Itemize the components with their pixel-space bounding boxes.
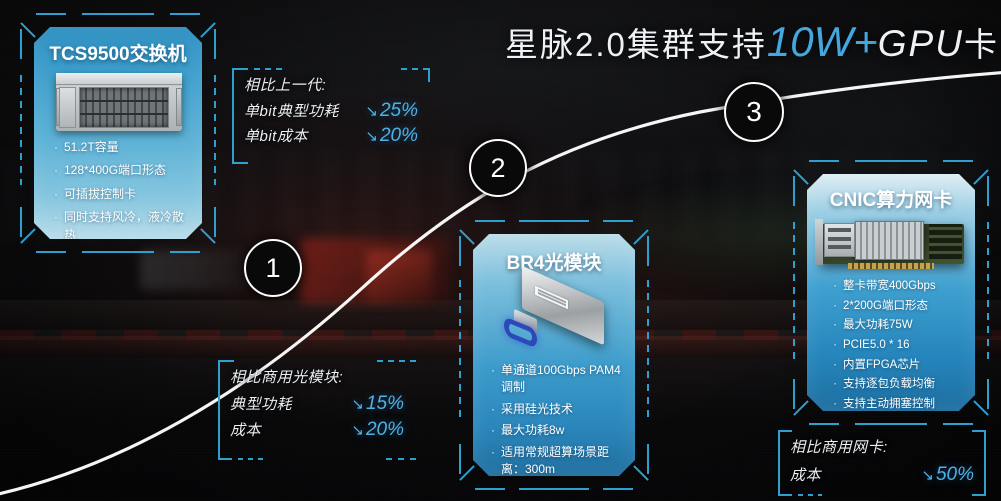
callout-row: 单bit成本 ↘20% — [244, 125, 418, 147]
bullet-text: PCIE5.0 * 16 — [843, 337, 967, 354]
callout-label: 单bit成本 — [244, 125, 308, 146]
list-item: · 最大功耗75W — [827, 317, 967, 334]
bullet-text: 最大功耗75W — [843, 317, 967, 334]
list-item: · 同时支持风冷，液冷散热 — [48, 209, 190, 244]
down-arrow-icon: ↘ — [365, 102, 378, 120]
callout-1: 相比上一代: 单bit典型功耗 ↘25% 单bit成本 ↘20% — [232, 68, 430, 164]
list-item: · 采用硅光技术 — [485, 401, 625, 418]
callout-body-1: 相比上一代: 单bit典型功耗 ↘25% 单bit成本 ↘20% — [232, 68, 430, 164]
bullet-dot-icon: · — [48, 209, 64, 226]
down-arrow-icon: ↘ — [921, 466, 934, 484]
callout-row: 成本 ↘20% — [230, 419, 404, 441]
callout-heading: 相比商用光模块: — [230, 366, 404, 387]
bullet-dot-icon: · — [48, 162, 64, 179]
callout-label: 单bit典型功耗 — [244, 100, 339, 121]
card-title-2: BR4光模块 — [473, 248, 635, 275]
step-marker-2[interactable]: 2 — [469, 139, 527, 197]
callout-value: ↘15% — [351, 393, 404, 415]
callout-value: ↘50% — [921, 464, 974, 486]
bullet-text: 内置FPGA芯片 — [843, 357, 967, 374]
callout-row: 典型功耗 ↘15% — [230, 393, 404, 415]
bullet-dot-icon: · — [485, 444, 501, 461]
step-marker-1[interactable]: 1 — [244, 239, 302, 297]
callout-value: ↘20% — [351, 419, 404, 441]
product-card-2[interactable]: BR4光模块 · 单通道100Gbps PAM4调制 · 采用硅光技术 · 最大… — [473, 234, 635, 476]
down-arrow-icon: ↘ — [351, 421, 364, 439]
bullet-dot-icon: · — [827, 357, 843, 374]
bullet-text: 2*200G端口形态 — [843, 298, 967, 315]
list-item: · 适用常规超算场景距离：300m — [485, 444, 625, 479]
card-bullets-2: · 单通道100Gbps PAM4调制 · 采用硅光技术 · 最大功耗8w · … — [473, 362, 635, 478]
list-item: · 内置FPGA芯片 — [827, 357, 967, 374]
bullet-text: 采用硅光技术 — [501, 401, 625, 418]
slide-canvas: 星脉2.0集群支持10W+GPU卡 TCS9500 — [0, 0, 1001, 501]
callout-heading: 相比上一代: — [244, 74, 418, 95]
callout-label: 成本 — [230, 419, 261, 440]
card-title-1: TCS9500交换机 — [34, 39, 202, 66]
list-item: · PCIE5.0 * 16 — [827, 337, 967, 354]
step-number: 1 — [265, 253, 280, 284]
bullet-text: 51.2T容量 — [64, 139, 190, 156]
list-item: · 51.2T容量 — [48, 139, 190, 156]
page-title-highlight: 10W+ — [767, 18, 878, 65]
bullet-text: 支持主动拥塞控制 — [843, 396, 967, 413]
bullet-dot-icon: · — [485, 401, 501, 418]
card-title-3: CNIC算力网卡 — [807, 185, 975, 212]
callout-3: 相比商用网卡: 成本 ↘50% — [778, 430, 986, 496]
list-item: · 可插拔控制卡 — [48, 186, 190, 203]
product-card-3[interactable]: CNIC算力网卡 · 整卡带宽400Gbps · 2*200G端口形态 · 最大… — [807, 174, 975, 411]
bullet-dot-icon: · — [827, 337, 843, 354]
callout-row: 单bit典型功耗 ↘25% — [244, 100, 418, 122]
list-item: · 2*200G端口形态 — [827, 298, 967, 315]
callout-value: ↘25% — [365, 100, 418, 122]
step-marker-3[interactable]: 3 — [724, 82, 784, 142]
callout-heading: 相比商用网卡: — [790, 436, 974, 457]
bullet-text: 可插拔控制卡 — [64, 186, 190, 203]
callout-body-2: 相比商用光模块: 典型功耗 ↘15% 成本 ↘20% — [218, 360, 416, 460]
step-number: 3 — [746, 96, 762, 128]
callout-body-3: 相比商用网卡: 成本 ↘50% — [778, 430, 986, 496]
list-item: · 单通道100Gbps PAM4调制 — [485, 362, 625, 397]
step-number: 2 — [490, 153, 505, 184]
list-item: · 128*400G端口形态 — [48, 162, 190, 179]
bullet-dot-icon: · — [827, 298, 843, 315]
bullet-dot-icon: · — [48, 139, 64, 156]
page-title-suffix-cn: 卡 — [964, 26, 998, 63]
bullet-text: 整卡带宽400Gbps — [843, 278, 967, 295]
bullet-dot-icon: · — [485, 362, 501, 379]
bullet-text: 同时支持风冷，液冷散热 — [64, 209, 190, 244]
bullet-dot-icon: · — [48, 186, 64, 203]
bullet-dot-icon: · — [485, 422, 501, 439]
card-bullets-3: · 整卡带宽400Gbps · 2*200G端口形态 · 最大功耗75W · P… — [807, 278, 975, 413]
down-arrow-icon: ↘ — [365, 127, 378, 145]
list-item: · 整卡带宽400Gbps — [827, 278, 967, 295]
bullet-text: 最大功耗8w — [501, 422, 625, 439]
down-arrow-icon: ↘ — [351, 395, 364, 413]
bullet-dot-icon: · — [827, 396, 843, 413]
bullet-dot-icon: · — [827, 376, 843, 393]
callout-label: 典型功耗 — [230, 393, 292, 414]
callout-value: ↘20% — [365, 125, 418, 147]
bullet-dot-icon: · — [827, 278, 843, 295]
list-item: · 支持逐包负载均衡 — [827, 376, 967, 393]
page-title: 星脉2.0集群支持10W+GPU卡 — [505, 18, 995, 66]
callout-label: 成本 — [790, 464, 821, 485]
bullet-text: 支持逐包负载均衡 — [843, 376, 967, 393]
network-interface-card-image — [815, 214, 967, 276]
optical-module-image — [491, 280, 619, 354]
list-item: · 支持主动拥塞控制 — [827, 396, 967, 413]
card-bullets-1: · 51.2T容量 · 128*400G端口形态 · 可插拔控制卡 · 同时支持… — [34, 139, 202, 244]
product-card-1[interactable]: TCS9500交换机 · 51.2T容量 · 128*400G端口形态 · 可插… — [34, 27, 202, 239]
bullet-dot-icon: · — [827, 317, 843, 334]
list-item: · 最大功耗8w — [485, 422, 625, 439]
bullet-text: 单通道100Gbps PAM4调制 — [501, 362, 625, 397]
bullet-text: 适用常规超算场景距离：300m — [501, 444, 625, 479]
page-title-prefix: 星脉2.0集群支持 — [505, 26, 767, 63]
callout-2: 相比商用光模块: 典型功耗 ↘15% 成本 ↘20% — [218, 360, 416, 460]
page-title-suffix: GPU — [878, 23, 964, 64]
rack-switch-image — [56, 73, 182, 131]
bullet-text: 128*400G端口形态 — [64, 162, 190, 179]
callout-row: 成本 ↘50% — [790, 464, 974, 486]
